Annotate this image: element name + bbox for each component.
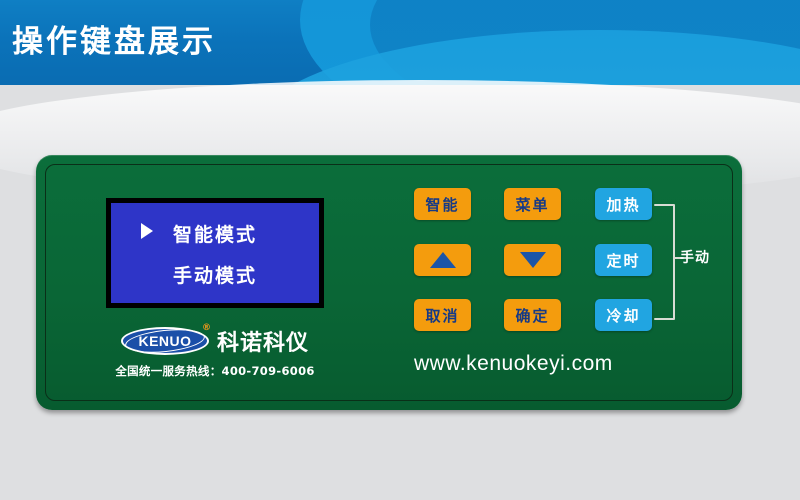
key-heat[interactable]: 加热 [595,188,652,220]
key-label: 取消 [425,305,459,326]
brand-block: KENUO ® 科诺科仪 全国统一服务热线：400-709-6006 [106,325,324,379]
arrow-up-icon [430,252,456,268]
key-confirm[interactable]: 确定 [504,299,561,331]
kenuo-logo: KENUO ® [121,327,209,355]
key-cancel[interactable]: 取消 [414,299,471,331]
page-header: 操作键盘展示 [0,0,800,85]
keyboard-panel: 智能模式 手动模式 KENUO ® 科诺科仪 全国统一服务热线：400-709-… [36,155,742,410]
key-cool[interactable]: 冷却 [595,299,652,331]
keypad-grid: 智能 菜单 加热 定时 取消 确定 冷却 [414,188,684,338]
key-label: 确定 [515,305,549,326]
key-label: 冷却 [606,305,640,326]
brand-name-cn: 科诺科仪 [217,325,309,357]
logo-wordmark: KENUO [121,327,209,355]
key-timer[interactable]: 定时 [595,244,652,276]
page-title: 操作键盘展示 [12,22,216,62]
arrow-down-icon [520,252,546,268]
trademark-icon: ® [202,323,211,333]
key-up[interactable] [414,244,471,276]
manual-group-label: 手动 [680,247,710,267]
key-label: 智能 [425,194,459,215]
service-hotline: 全国统一服务热线：400-709-6006 [106,363,324,379]
website-url: www.kenuokeyi.com [414,352,714,376]
key-menu[interactable]: 菜单 [504,188,561,220]
lcd-line-manual-mode: 手动模式 [111,261,319,288]
key-label: 加热 [606,194,640,215]
key-down[interactable] [504,244,561,276]
brand-row: KENUO ® 科诺科仪 [106,325,324,357]
lcd-screen: 智能模式 手动模式 [111,203,319,303]
key-label: 定时 [606,250,640,271]
key-label: 菜单 [515,194,549,215]
lcd-display: 智能模式 手动模式 [106,198,324,308]
lcd-line-smart-mode: 智能模式 [111,220,319,247]
key-smart[interactable]: 智能 [414,188,471,220]
